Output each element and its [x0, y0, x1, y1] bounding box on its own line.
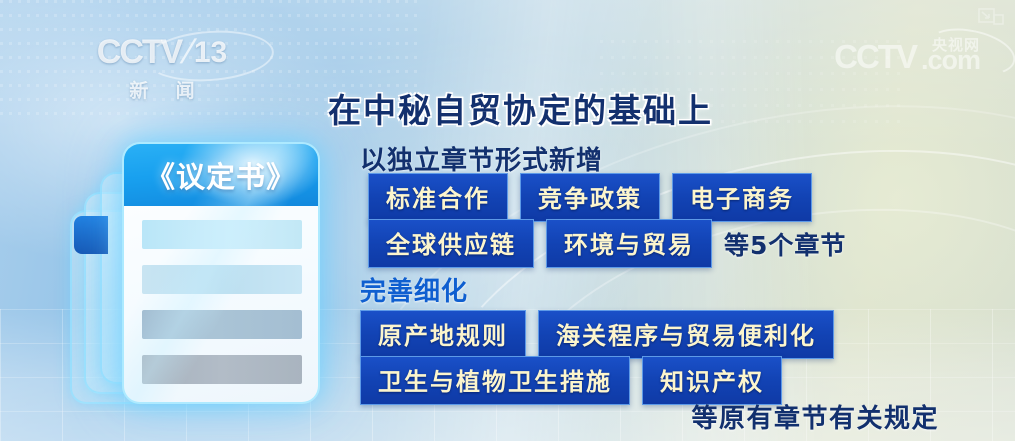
document-text-lines [142, 220, 302, 384]
tag-item[interactable]: 环境与贸易 [546, 219, 712, 268]
tag-item[interactable]: 竞争政策 [520, 173, 660, 222]
tag-row-1: 标准合作 竞争政策 电子商务 [368, 173, 812, 222]
row-trailing-note: 等5个章节 [724, 226, 846, 262]
protocol-document-graphic: 《议定书》 [64, 132, 344, 414]
section-heading-refinements: 完善细化 [360, 271, 468, 308]
document-line-3 [142, 310, 302, 339]
document-header-bar: 《议定书》 [124, 144, 318, 206]
document-line-1 [142, 220, 302, 249]
tag-row-2: 全球供应链 环境与贸易 等5个章节 [368, 219, 846, 268]
channel-logo-row: CCTV / 13 [97, 33, 227, 72]
tag-item[interactable]: 全球供应链 [368, 219, 534, 268]
channel-logo: CCTV / 13 新 闻 [62, 33, 262, 103]
watermark-brand: CCTV [834, 38, 916, 76]
tag-row-3: 原产地规则 海关程序与贸易便利化 [360, 310, 834, 359]
tag-item[interactable]: 海关程序与贸易便利化 [538, 310, 834, 359]
section-heading-new-chapters: 以独立章节形式新增 [360, 140, 603, 177]
tag-item[interactable]: 电子商务 [672, 173, 812, 222]
broadcast-graphic-screen: CCTV / 13 新 闻 CCTV .com 央视网 《议定书》 [0, 0, 1015, 441]
cctv-com-watermark: CCTV .com 央视网 [834, 38, 980, 76]
footnote-text: 等原有章节有关规定 [691, 398, 939, 435]
tag-item[interactable]: 标准合作 [368, 173, 508, 222]
document-line-2 [142, 265, 302, 294]
document-line-4 [142, 355, 302, 384]
document-title: 《议定书》 [146, 154, 296, 196]
page-title: 在中秘自贸协定的基础上 [328, 84, 713, 132]
document-side-tab [74, 216, 108, 254]
tag-item[interactable]: 卫生与植物卫生措施 [360, 356, 630, 405]
restore-window-icon[interactable] [978, 8, 1004, 30]
document-front-page: 《议定书》 [122, 142, 320, 404]
tag-item[interactable]: 原产地规则 [360, 310, 526, 359]
